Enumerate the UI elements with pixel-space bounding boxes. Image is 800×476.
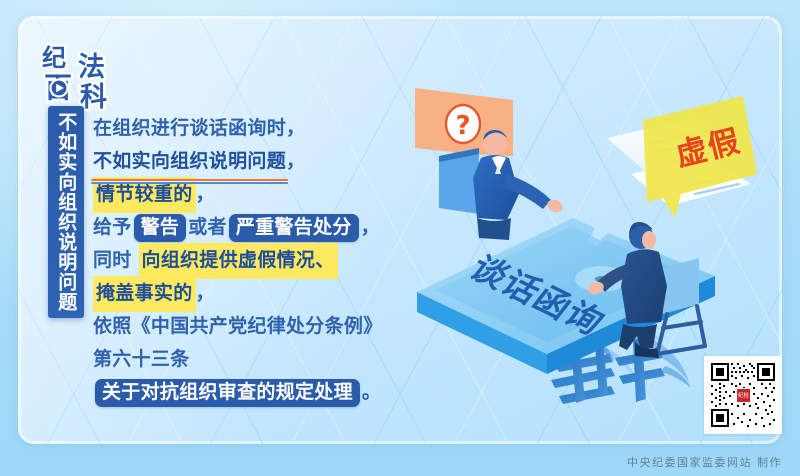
article-number: 第六十三条 bbox=[93, 343, 190, 376]
svg-text:科: 科 bbox=[80, 82, 107, 113]
main-text-block: 在组织进行谈话函询时， 不如实向组织说明问题 ， 情节较重的 ， 给予 警告 或… bbox=[93, 112, 423, 409]
text-line-9-period: 。 bbox=[362, 376, 381, 409]
text-line-1: 在组织进行谈话函询时， bbox=[93, 112, 423, 145]
brand-logo: 纪 纪 法 法 百 百 科 科 bbox=[38, 42, 134, 114]
text-line-4-comma: ， bbox=[361, 211, 380, 244]
text-line-7: 依照《中国共产党纪律处分条例》 bbox=[93, 310, 423, 343]
svg-text:纪: 纪 bbox=[42, 44, 66, 72]
emphasis-underlined: 不如实向组织说明问题 bbox=[93, 145, 286, 179]
text-line-2: 不如实向组织说明问题 ， bbox=[93, 145, 423, 178]
qr-code[interactable]: 纪检 bbox=[704, 356, 782, 434]
question-mark-icon: ? bbox=[446, 105, 480, 143]
text-line-2-comma: ， bbox=[286, 145, 305, 178]
highlight-false-info: 向组织提供虚假情况、 bbox=[139, 243, 338, 279]
vertical-title-text: 不如实向组织说明问题 bbox=[56, 112, 77, 312]
badge-resist-investigation: 关于对抗组织审查的规定处理 bbox=[95, 379, 360, 407]
footer-credit: 中央纪委国家监委网站 制作 bbox=[627, 454, 782, 470]
text-line-1-part: 在组织进行谈话函询时， bbox=[93, 112, 305, 145]
svg-text:法: 法 bbox=[78, 52, 105, 83]
text-line-6: 掩盖事实的 ， bbox=[93, 277, 423, 310]
poster-root: 纪 纪 法 法 百 百 科 科 不如实向组织说明问题 在组 bbox=[0, 0, 800, 476]
text-line-4-or: 或者 bbox=[188, 211, 227, 244]
text-line-4: 给予 警告 或者 严重警告处分 ， bbox=[93, 211, 423, 244]
vertical-title-banner: 不如实向组织说明问题 bbox=[48, 106, 84, 318]
isometric-illustration: 谈话函询 ? bbox=[395, 78, 795, 378]
text-line-5: 同时 向组织提供虚假情况、 bbox=[93, 244, 423, 277]
svg-text:?: ? bbox=[455, 111, 470, 141]
badge-serious-warning: 严重警告处分 bbox=[229, 214, 359, 242]
text-line-9: 关于对抗组织审查的规定处理 。 bbox=[93, 376, 423, 409]
play-button-icon bbox=[51, 80, 68, 97]
badge-warning: 警告 bbox=[134, 214, 187, 242]
svg-text:纪检: 纪检 bbox=[738, 391, 750, 399]
center-stamp: 纪检 bbox=[736, 388, 751, 403]
regulation-citation: 依照《中国共产党纪律处分条例》 bbox=[93, 310, 383, 343]
highlight-conceal-facts: 掩盖事实的 bbox=[93, 276, 196, 312]
false-statement-bubble: 虚假 bbox=[643, 96, 757, 218]
text-line-8: 第六十三条 bbox=[93, 343, 423, 376]
text-line-4-prefix: 给予 bbox=[93, 211, 132, 244]
text-line-5-prefix: 同时 bbox=[93, 244, 132, 277]
text-line-6-comma: ， bbox=[196, 277, 215, 310]
